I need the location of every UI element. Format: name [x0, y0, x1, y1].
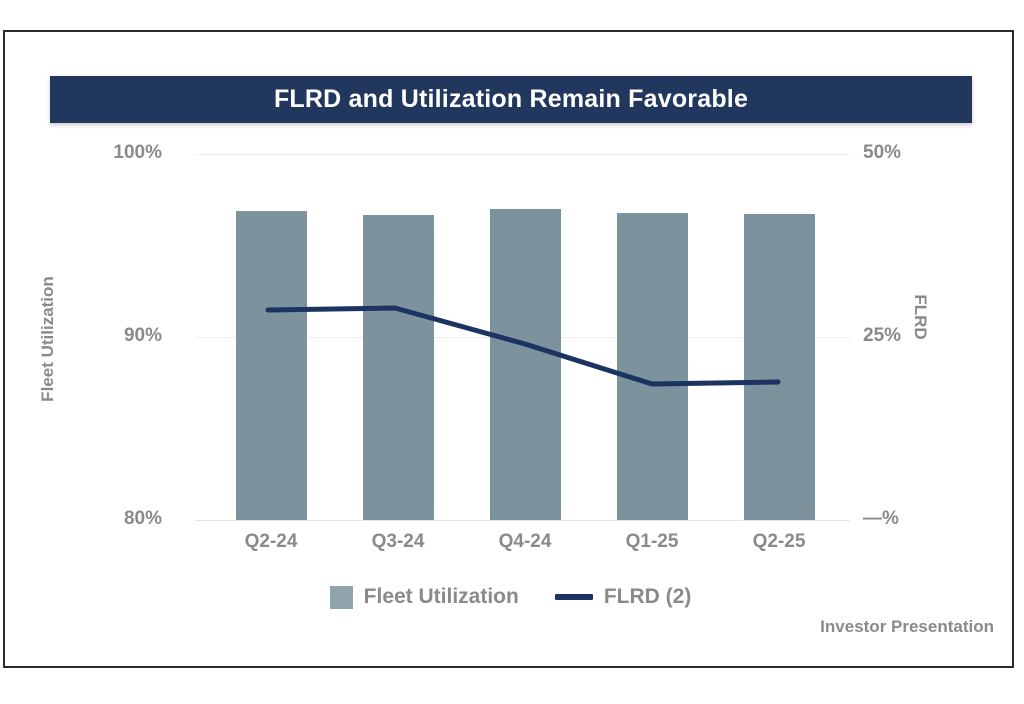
xtick-q4-24: Q4-24: [465, 531, 585, 553]
slide-frame: FLRD and Utilization Remain Favorable Fl…: [3, 30, 1014, 668]
legend-item-fleet-utilization[interactable]: Fleet Utilization: [330, 585, 519, 609]
legend-label-fleet-utilization: Fleet Utilization: [364, 585, 519, 609]
xtick-q2-25: Q2-25: [719, 531, 839, 553]
legend-label-flrd: FLRD (2): [604, 585, 692, 609]
legend-square-icon: [330, 586, 353, 609]
flrd-line-path: [268, 308, 778, 384]
legend-line-icon: [555, 594, 593, 600]
xtick-q3-24: Q3-24: [338, 531, 458, 553]
xtick-q2-24: Q2-24: [211, 531, 331, 553]
flrd-line-series[interactable]: [5, 32, 1016, 670]
legend-item-flrd[interactable]: FLRD (2): [555, 585, 692, 609]
chart-plot-area: Fleet Utilization 100% 90% 80% FLRD 50% …: [5, 32, 1016, 670]
xtick-q1-25: Q1-25: [592, 531, 712, 553]
chart-legend: Fleet Utilization FLRD (2): [5, 585, 1016, 609]
footer-note: Investor Presentation: [820, 617, 994, 637]
